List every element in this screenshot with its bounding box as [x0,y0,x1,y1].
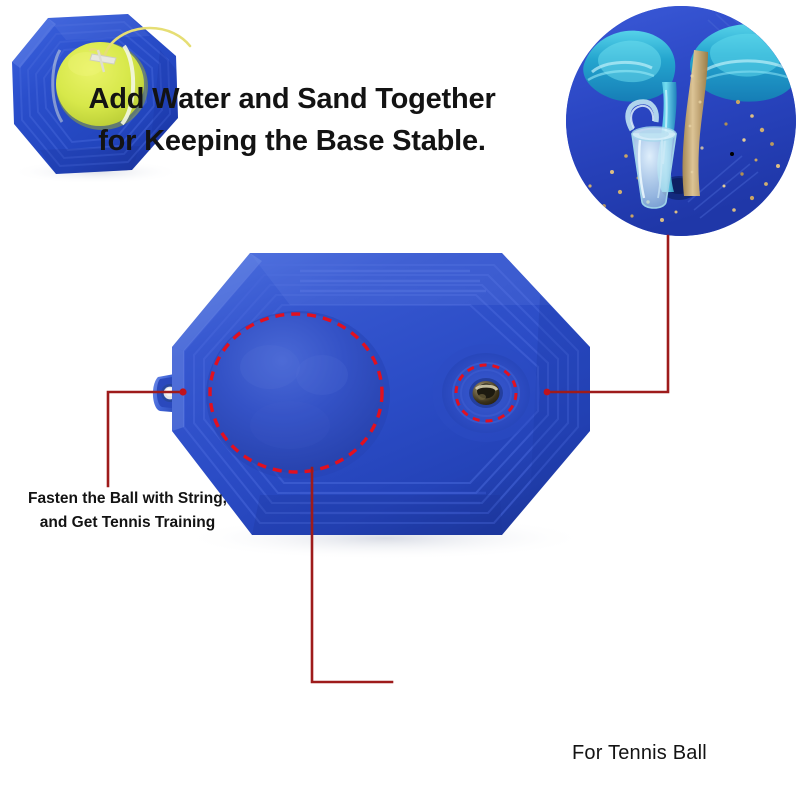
caption-fasten-ball: Fasten the Ball with String, and Get Ten… [10,487,245,535]
fill-port [432,344,540,442]
caption-left-line-1: Fasten the Ball with String, [28,490,227,507]
headline-line-2: for Keeping the Base Stable. [52,120,532,162]
infographic-canvas: Add Water and Sand Together for Keeping … [0,0,800,800]
caption-left-line-2: and Get Tennis Training [40,514,215,531]
headline-line-1: Add Water and Sand Together [88,83,495,115]
page-title: Add Water and Sand Together for Keeping … [52,78,532,162]
caption-for-tennis-ball: For Tennis Ball [572,742,707,765]
water-sand-illustration [566,6,796,236]
water-sand-inset [566,6,796,236]
ball-mount-dome [206,311,390,479]
